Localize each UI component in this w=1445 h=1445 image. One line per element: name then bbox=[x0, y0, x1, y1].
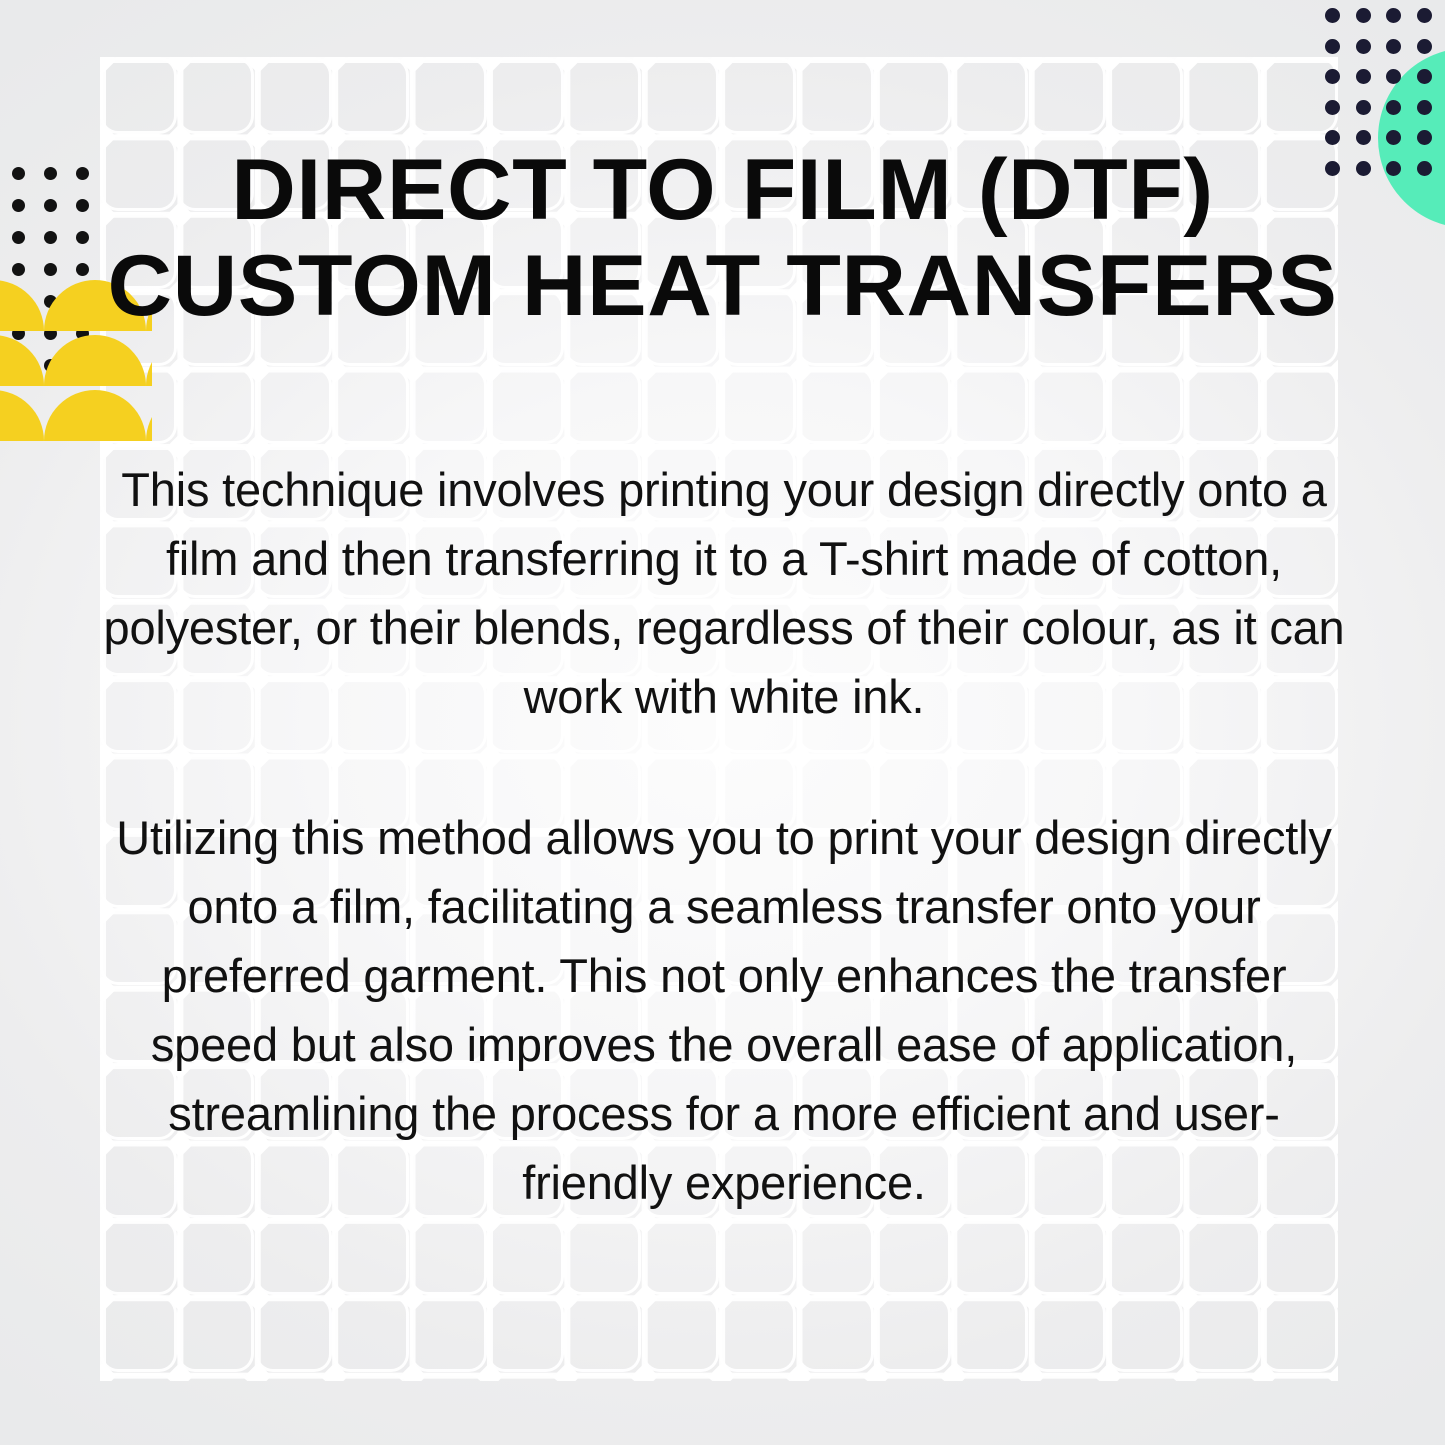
body-copy: This technique involves printing your de… bbox=[95, 455, 1353, 1217]
page-title-line-2: CUSTOM HEAT TRANSFERS bbox=[65, 238, 1381, 334]
poster-content: DIRECT TO FILM (DTF) CUSTOM HEAT TRANSFE… bbox=[0, 0, 1445, 1445]
body-paragraph-2: Utilizing this method allows you to prin… bbox=[95, 803, 1353, 1217]
page-title-line-1: DIRECT TO FILM (DTF) bbox=[65, 142, 1381, 238]
body-paragraph-1: This technique involves printing your de… bbox=[95, 455, 1353, 731]
poster-canvas: DIRECT TO FILM (DTF) CUSTOM HEAT TRANSFE… bbox=[0, 0, 1445, 1445]
page-title: DIRECT TO FILM (DTF) CUSTOM HEAT TRANSFE… bbox=[65, 142, 1381, 334]
